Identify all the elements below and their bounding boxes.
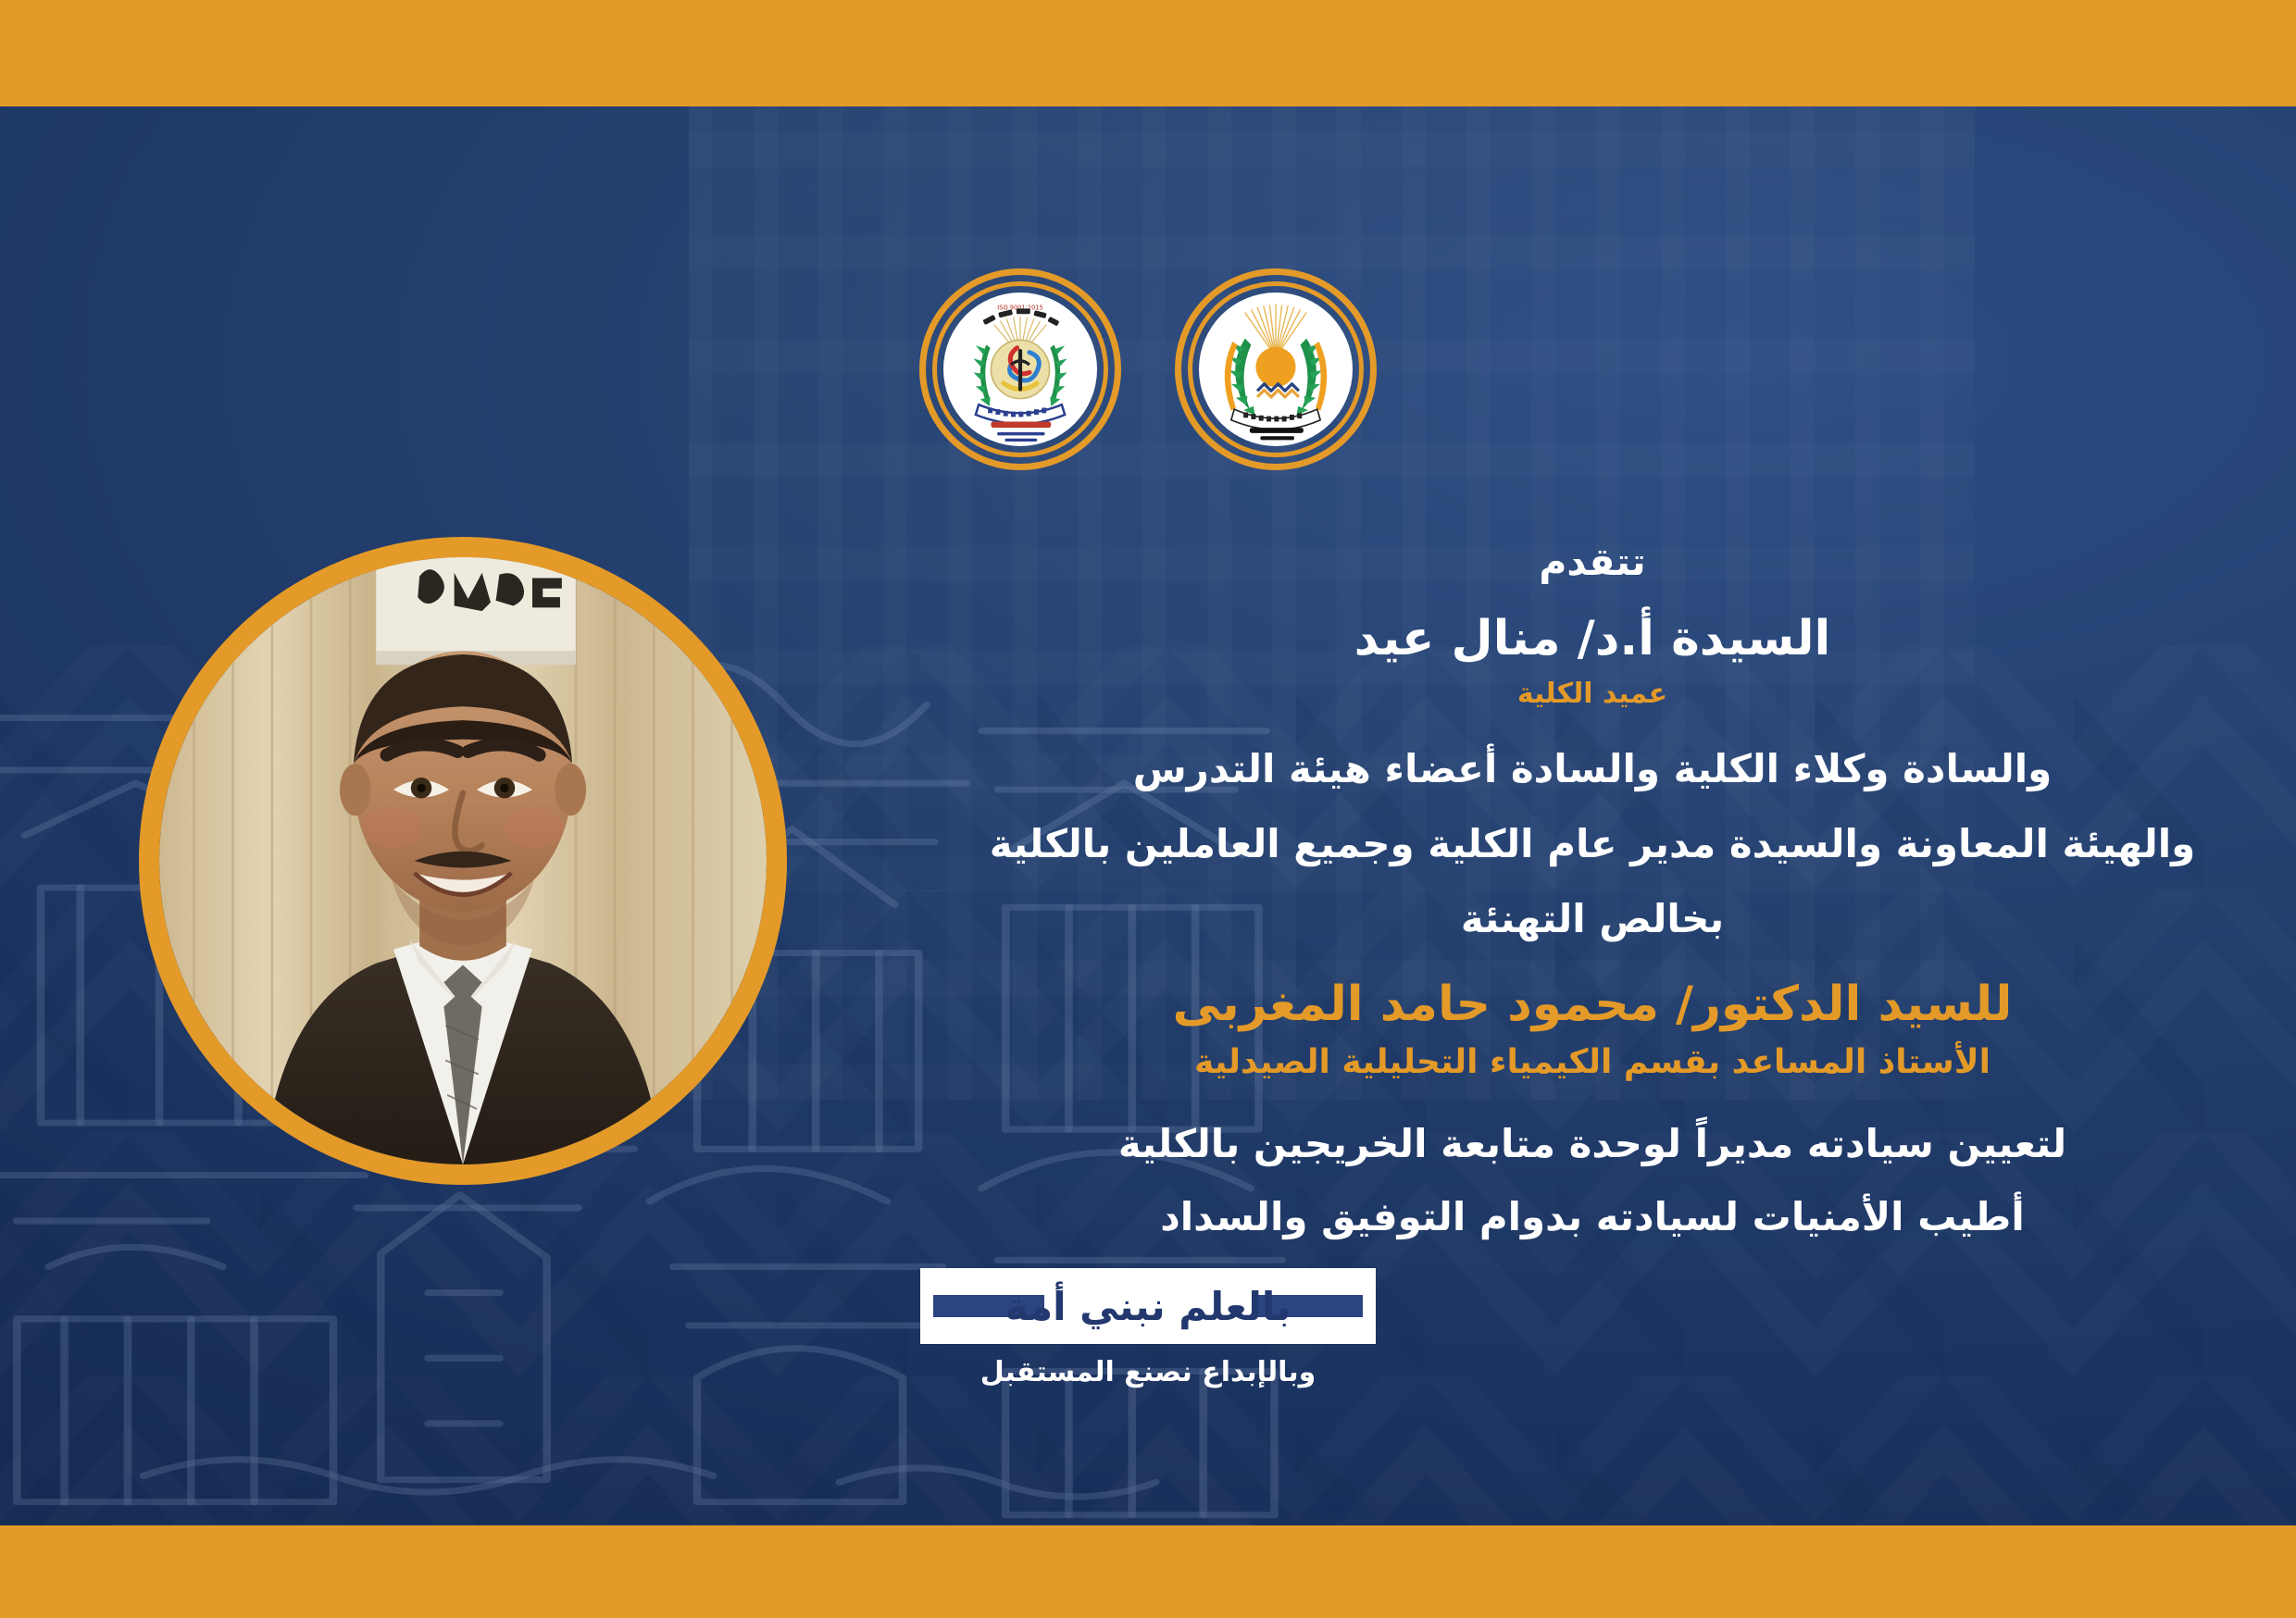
top-orange-band: [0, 0, 2296, 106]
university-logos: ISO 9001:2015: [0, 268, 2296, 470]
honoree-rank: الأستاذ المساعد بقسم الكيمياء التحليلية …: [963, 1044, 2222, 1081]
faculty-of-pharmacy-logo: ISO 9001:2015: [919, 268, 1121, 470]
slogan-box: بالعلم نبني أمة: [920, 1268, 1376, 1344]
poster-stage: ISO 9001:2015: [0, 106, 2296, 1525]
body-line-3: بخالص التهنئة: [963, 897, 2222, 940]
good-wishes-line: أطيب الأمنيات لسيادته بدوام التوفيق والس…: [963, 1195, 2222, 1238]
mansoura-university-logo: [1175, 268, 1377, 470]
appointment-reason: لتعيين سيادته مديراً لوحدة متابعة الخريج…: [963, 1122, 2222, 1165]
bottom-orange-band: [0, 1525, 2296, 1618]
honoree-name: للسيد الدكتور/ محمود حامد المغربى: [963, 977, 2222, 1031]
congratulation-poster: ISO 9001:2015: [0, 0, 2296, 1618]
slogan-sub-text: وبالإبداع نصنع المستقبل: [980, 1356, 1316, 1388]
logo-disc: [1199, 292, 1353, 446]
dean-title: عميد الكلية: [963, 678, 2222, 710]
body-line-2: والهيئة المعاونة والسيدة مدير عام الكلية…: [963, 822, 2222, 865]
university-slogan: بالعلم نبني أمة وبالإبداع نصنع المستقبل: [0, 1268, 2296, 1388]
intro-line: تتقدم: [963, 541, 2222, 584]
dean-name: السيدة أ.د/ منال عيد: [963, 612, 2222, 666]
logo-disc: ISO 9001:2015: [943, 292, 1097, 446]
slogan-main-text: بالعلم نبني أمة: [1005, 1284, 1291, 1329]
body-line-1: والسادة وكلاء الكلية والسادة أعضاء هيئة …: [963, 747, 2222, 790]
announcement-text: تتقدم السيدة أ.د/ منال عيد عميد الكلية و…: [963, 541, 2222, 1238]
honoree-portrait: [139, 537, 787, 1185]
portrait-photo: [159, 557, 767, 1164]
